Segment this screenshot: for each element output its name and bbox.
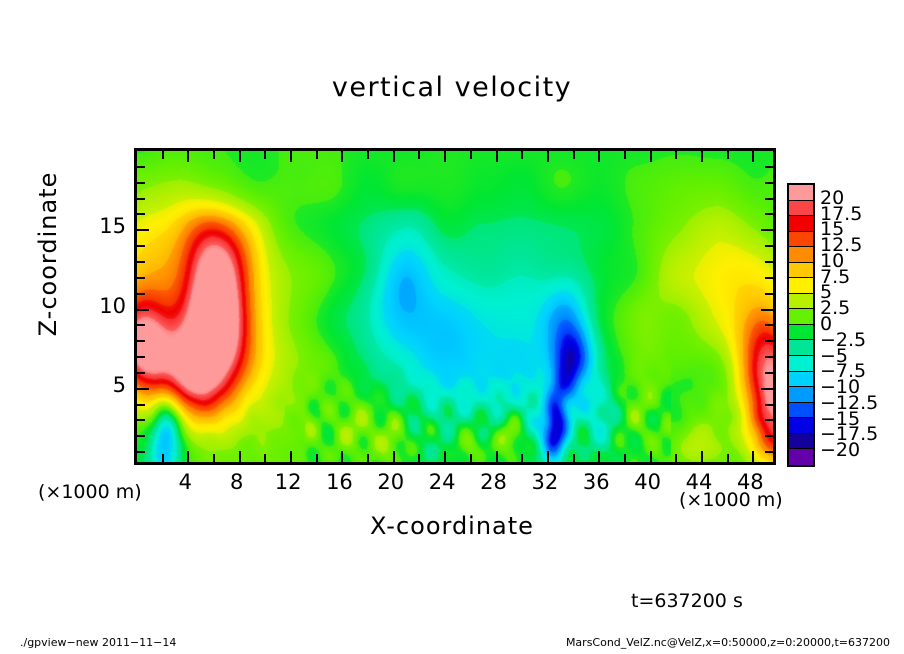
x-axis-tick	[598, 151, 600, 162]
colorbar-tick-label: −20	[820, 439, 860, 461]
x-axis-tick	[162, 151, 164, 159]
colorbar-band	[789, 201, 813, 217]
y-axis-tick	[761, 309, 773, 311]
y-axis-tick	[137, 277, 145, 279]
x-axis-unit-left: (×1000 m)	[38, 481, 142, 503]
x-axis-tick	[701, 151, 703, 162]
x-axis-tick	[213, 151, 215, 159]
x-axis-tick	[496, 151, 498, 162]
y-axis-tick	[765, 261, 773, 263]
x-axis-tick	[444, 451, 446, 462]
y-axis-tick	[137, 404, 145, 406]
x-axis-tick	[650, 451, 652, 462]
y-axis-tick-label: 10	[84, 294, 126, 318]
x-axis-tick	[547, 451, 549, 462]
footer-command: ./gpview−new 2011−11−14	[20, 636, 176, 649]
x-axis-tick	[752, 451, 754, 462]
colorbar	[787, 183, 815, 467]
y-axis-tick	[137, 293, 145, 295]
x-axis-tick	[727, 454, 729, 462]
y-axis-tick	[137, 229, 149, 231]
y-axis-tick-label: 15	[84, 214, 126, 238]
y-axis-tick	[137, 198, 145, 200]
y-axis-tick	[765, 293, 773, 295]
x-axis-tick	[290, 451, 292, 462]
colorbar-band	[789, 185, 813, 201]
x-axis-tick	[239, 451, 241, 462]
y-axis-tick	[765, 451, 773, 453]
colorbar-band	[789, 216, 813, 232]
x-axis-tick	[521, 151, 523, 159]
y-axis-tick	[137, 451, 145, 453]
x-axis-tick	[521, 454, 523, 462]
x-axis-tick	[624, 454, 626, 462]
x-axis-unit-right: (×1000 m)	[679, 489, 783, 511]
y-axis-label: Z-coordinate	[34, 154, 62, 354]
colorbar-band	[789, 278, 813, 294]
colorbar-band	[789, 263, 813, 279]
y-axis-tick	[765, 324, 773, 326]
x-axis-tick	[418, 151, 420, 159]
y-axis-tick	[765, 198, 773, 200]
x-axis-tick	[264, 454, 266, 462]
y-axis-tick	[765, 245, 773, 247]
colorbar-band	[789, 356, 813, 372]
x-axis-tick	[573, 454, 575, 462]
vertical-velocity-heatmap	[137, 151, 773, 462]
x-axis-tick	[239, 151, 241, 162]
y-axis-tick	[137, 182, 145, 184]
y-axis-tick	[137, 340, 145, 342]
y-axis-tick	[137, 356, 145, 358]
y-axis-tick	[137, 245, 145, 247]
x-axis-tick	[290, 151, 292, 162]
colorbar-band	[789, 232, 813, 248]
contour-plot-frame	[134, 148, 776, 465]
x-axis-tick	[675, 151, 677, 159]
x-axis-tick	[496, 451, 498, 462]
time-annotation: t=637200 s	[631, 590, 743, 612]
colorbar-band	[789, 403, 813, 419]
colorbar-band	[789, 449, 813, 465]
y-axis-tick	[137, 419, 145, 421]
y-axis-tick	[137, 166, 145, 168]
x-axis-tick	[624, 151, 626, 159]
y-axis-tick	[765, 404, 773, 406]
x-axis-tick	[316, 151, 318, 159]
x-axis-tick	[316, 454, 318, 462]
x-axis-tick	[367, 454, 369, 462]
x-axis-tick	[162, 454, 164, 462]
x-axis-tick	[727, 151, 729, 159]
x-axis-tick	[701, 451, 703, 462]
x-axis-tick	[444, 151, 446, 162]
colorbar-band	[789, 418, 813, 434]
y-axis-tick	[761, 229, 773, 231]
x-axis-tick	[393, 151, 395, 162]
colorbar-band	[789, 247, 813, 263]
x-axis-tick	[264, 151, 266, 159]
x-axis-tick	[187, 451, 189, 462]
x-axis-tick	[470, 151, 472, 159]
y-axis-tick	[765, 419, 773, 421]
x-axis-tick	[341, 151, 343, 162]
x-axis-tick	[187, 151, 189, 162]
y-axis-tick-label: 5	[84, 373, 126, 397]
x-axis-tick	[213, 454, 215, 462]
x-axis-tick	[675, 454, 677, 462]
x-axis-tick	[573, 151, 575, 159]
y-axis-tick	[137, 435, 145, 437]
y-axis-tick	[765, 356, 773, 358]
x-axis-label: X-coordinate	[0, 512, 904, 540]
y-axis-tick	[137, 309, 149, 311]
colorbar-band	[789, 434, 813, 450]
y-axis-tick	[137, 372, 145, 374]
colorbar-band	[789, 387, 813, 403]
colorbar-band	[789, 294, 813, 310]
y-axis-tick	[765, 166, 773, 168]
x-axis-tick	[367, 151, 369, 159]
x-axis-tick	[393, 451, 395, 462]
x-axis-tick	[650, 151, 652, 162]
colorbar-band	[789, 309, 813, 325]
y-axis-tick	[765, 340, 773, 342]
page-title: vertical velocity	[0, 72, 904, 103]
y-axis-tick	[137, 261, 145, 263]
y-axis-tick	[137, 324, 145, 326]
x-axis-tick	[418, 454, 420, 462]
colorbar-band	[789, 325, 813, 341]
colorbar-band	[789, 340, 813, 356]
x-axis-tick	[752, 151, 754, 162]
y-axis-tick	[137, 213, 145, 215]
y-axis-tick	[765, 182, 773, 184]
x-axis-tick	[470, 454, 472, 462]
y-axis-tick	[765, 372, 773, 374]
colorbar-band	[789, 372, 813, 388]
y-axis-tick	[765, 213, 773, 215]
y-axis-tick	[137, 388, 149, 390]
x-axis-tick	[598, 451, 600, 462]
y-axis-tick	[761, 388, 773, 390]
footer-dataset: MarsCond_VelZ.nc@VelZ,x=0:50000,z=0:2000…	[566, 636, 890, 649]
x-axis-tick	[341, 451, 343, 462]
y-axis-tick	[765, 277, 773, 279]
x-axis-tick	[547, 151, 549, 162]
y-axis-tick	[765, 435, 773, 437]
